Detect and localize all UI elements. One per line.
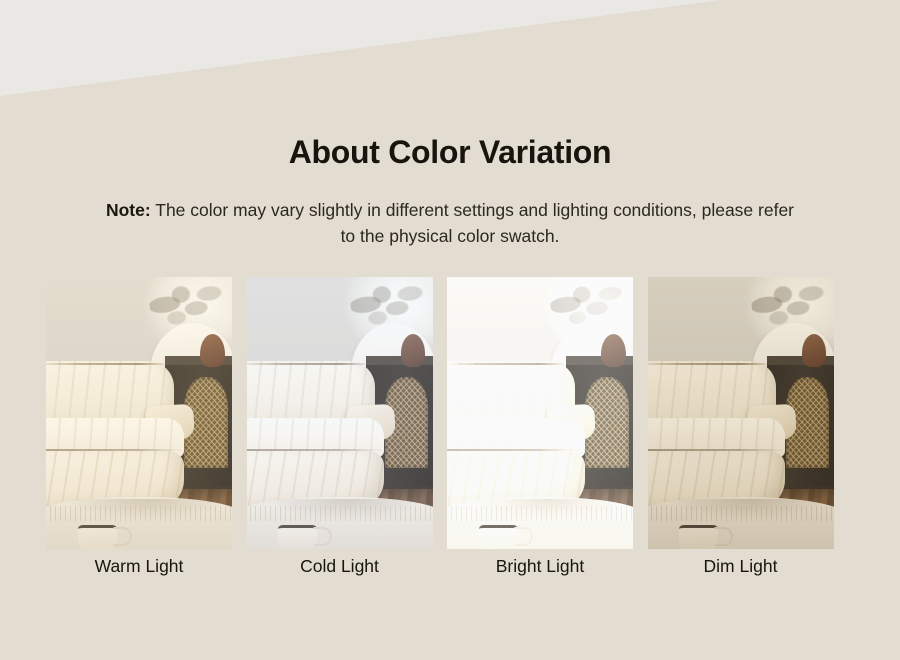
swatch-label-bright-light: Bright Light [447,553,633,579]
vase [802,334,826,367]
swatch-image-strip [46,277,855,549]
coffee-mug [278,525,317,549]
diagonal-corner-band [0,0,900,120]
area-rug [46,497,232,549]
coffee-mug [479,525,518,549]
swatch-caption-row: Warm Light Cold Light Bright Light Dim L… [46,553,855,579]
swatch-image-dim-light[interactable] [648,277,834,549]
swatch-image-bright-light[interactable] [447,277,633,549]
swatch-label-warm-light: Warm Light [46,553,232,579]
area-rug [447,497,633,549]
rug-fringe [46,506,232,522]
color-variation-banner: About Color Variation Note: The color ma… [0,0,900,660]
page-title: About Color Variation [0,131,900,173]
sofa-piping [648,363,772,365]
rug-fringe [648,506,834,522]
note-label: Note: [106,200,151,220]
area-rug [247,497,433,549]
sofa-scene-photo [648,277,834,549]
coffee-mug [78,525,117,549]
sofa-piping [447,363,571,365]
swatch-label-dim-light: Dim Light [648,553,834,579]
vase [401,334,425,367]
sofa-scene-photo [247,277,433,549]
note-text: The color may vary slightly in different… [155,200,794,246]
vase [601,334,625,367]
sofa-scene-photo [46,277,232,549]
swatch-image-cold-light[interactable] [247,277,433,549]
sofa-piping [46,363,170,365]
coffee-mug [679,525,718,549]
mug-handle [113,527,132,546]
mug-handle [514,527,533,546]
rug-fringe [447,506,633,522]
area-rug [648,497,834,549]
swatch-label-cold-light: Cold Light [247,553,433,579]
sofa-piping [247,363,371,365]
swatch-image-warm-light[interactable] [46,277,232,549]
sofa-scene-photo [447,277,633,549]
vase [200,334,224,367]
rug-fringe [247,506,433,522]
note-paragraph: Note: The color may vary slightly in dif… [100,197,800,249]
